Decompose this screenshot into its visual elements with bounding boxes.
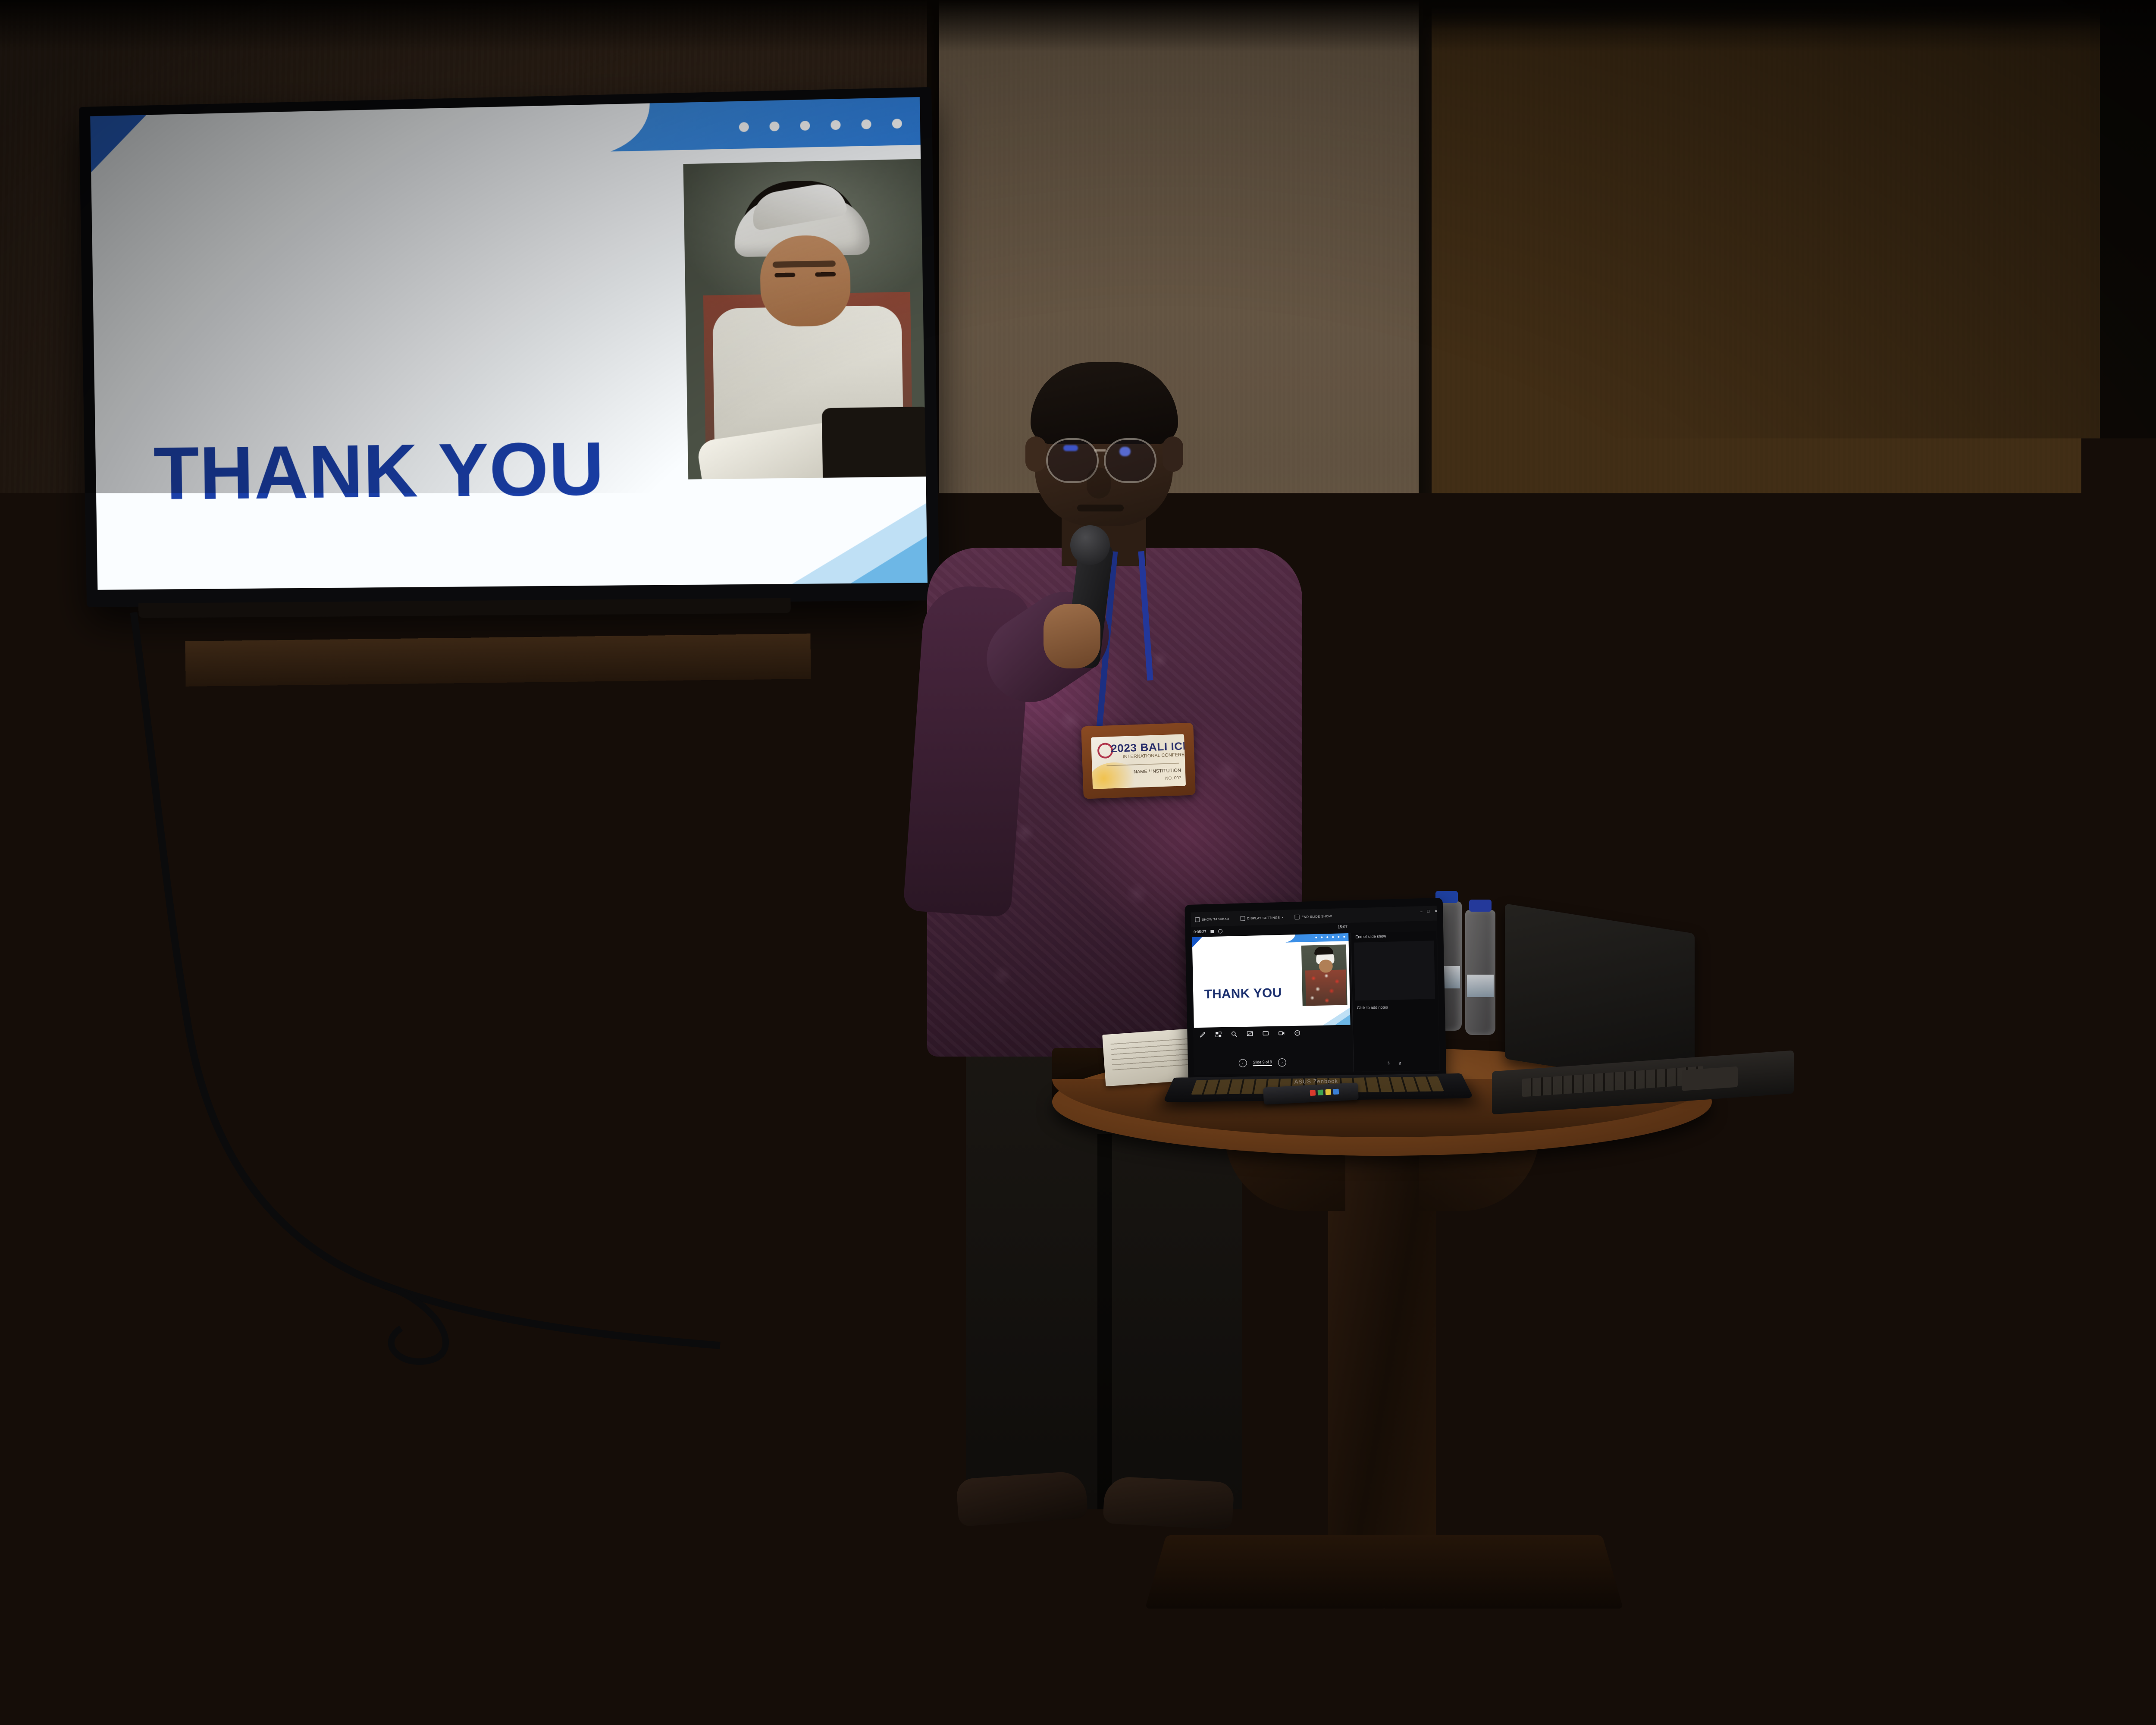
slide-dot [1321, 936, 1322, 938]
wood-panel-seam [203, 595, 206, 1354]
slide-dot [861, 119, 871, 129]
assistant-brow-left [1727, 699, 1763, 704]
assistant-brow-right [1776, 697, 1808, 702]
toolbar-show-taskbar[interactable]: Show Taskbar [1195, 916, 1229, 922]
slide-dot [739, 122, 749, 132]
clicker-button-green[interactable] [1318, 1089, 1324, 1095]
pause-timer-icon[interactable] [1210, 930, 1214, 933]
photo-eye [774, 273, 795, 277]
photo-face [760, 235, 851, 327]
clicker-button-red[interactable] [1310, 1090, 1316, 1096]
clicker-button-yellow[interactable] [1326, 1089, 1332, 1095]
slide-dot [830, 120, 840, 130]
ceiling-soffit [1423, 0, 2156, 30]
photo-brow [773, 260, 836, 268]
clicker-button-blue[interactable] [1333, 1089, 1339, 1095]
assistant-hair-fringe [1700, 624, 1872, 701]
more-options-icon[interactable] [1294, 1029, 1300, 1036]
slide-dot [1338, 936, 1339, 938]
presenter-ink-toolbar[interactable] [1199, 1029, 1300, 1038]
laptop-desk-1[interactable] [1802, 1018, 2044, 1207]
presenter-ear-right [1163, 436, 1183, 472]
previous-slide-button[interactable]: ‹ [1239, 1059, 1247, 1067]
slide-counter: Slide 9 of 9 [1253, 1060, 1272, 1066]
photo-face [1319, 960, 1333, 973]
laptop-keyboard[interactable] [1824, 1170, 2009, 1205]
laptop-screen[interactable]: Show Taskbar Display Settings ▾ End Slid… [1191, 906, 1440, 1075]
lens-reflection-left [1063, 445, 1078, 451]
window-controls[interactable]: – □ ✕ [1420, 909, 1438, 913]
notes-zoom-controls[interactable]: 𝔥 𝔤 [1388, 1061, 1401, 1066]
assistant-mouth [1749, 764, 1790, 770]
notes-placeholder[interactable]: Click to add notes [1357, 1005, 1388, 1010]
photo-ceremonial-garland [1305, 969, 1347, 1006]
presenter-nose [1087, 467, 1111, 499]
clicker-buttons[interactable] [1310, 1089, 1339, 1096]
tv-wall-shelf [185, 634, 811, 687]
wood-panel-seam [763, 595, 767, 1354]
camera-icon[interactable] [1278, 1029, 1285, 1036]
slide-title: THANK YOU [1204, 986, 1282, 1002]
next-slide-heading: End of slide show [1355, 934, 1386, 939]
presenter-hand [1044, 604, 1100, 668]
assistant-eye-left [1732, 712, 1757, 721]
slide-photo [1301, 944, 1347, 1006]
bottle-cap [1469, 900, 1492, 912]
minimize-icon[interactable]: – [1420, 910, 1422, 913]
presentation-slide: THANK YOU [90, 97, 928, 590]
badge-number: NO. 007 [1165, 776, 1181, 781]
wall-mounted-tv: THANK YOU [79, 87, 940, 607]
lens-reflection-right [1119, 447, 1131, 456]
presenter-hair [1031, 362, 1178, 444]
slide-dot [800, 121, 810, 131]
toolbar-end-slide-show[interactable]: End Slide Show [1294, 913, 1332, 919]
chevron-down-icon: ▾ [1282, 916, 1284, 919]
decrease-text-icon[interactable]: 𝔥 [1388, 1061, 1390, 1066]
eyeglasses-bridge [1094, 449, 1106, 452]
wood-panel-seam [483, 595, 486, 1354]
slide-dot [1315, 937, 1317, 938]
elapsed-timer: 0:05:27 [1194, 929, 1206, 934]
laptop-keyboard[interactable] [1522, 1066, 1703, 1097]
next-slide-preview [1354, 941, 1435, 1000]
bottle-label [1467, 975, 1494, 997]
tv-screen: THANK YOU [90, 97, 928, 590]
bottle-cap [2143, 1026, 2156, 1040]
slide-photo [683, 159, 928, 479]
taskbar-icon [1195, 917, 1200, 922]
toolbar-show-taskbar-label: Show Taskbar [1202, 917, 1229, 922]
assistant-ear [1838, 703, 1864, 745]
slide-title: THANK YOU [153, 431, 605, 511]
presenter-side-panel: End of slide show Click to add notes 𝔥 𝔤 [1351, 931, 1439, 1072]
laptop-table-secondary[interactable] [1496, 919, 1738, 1104]
next-slide-button[interactable]: › [1278, 1058, 1286, 1066]
increase-text-icon[interactable]: 𝔤 [1399, 1061, 1401, 1066]
assistant-eye-right [1780, 710, 1805, 719]
restart-timer-icon[interactable] [1218, 929, 1222, 933]
water-bottle[interactable] [2139, 1035, 2156, 1177]
system-clock: 15:07 [1338, 925, 1347, 929]
name-badge-card: 2023 BALI ICPM INTERNATIONAL CONFERENCE … [1091, 734, 1186, 789]
slide-corner-accent [90, 115, 147, 172]
slide-navigation[interactable]: ‹ Slide 9 of 9 › [1239, 1058, 1286, 1067]
slide-dot [1332, 936, 1334, 938]
photo-eye [815, 272, 836, 277]
badge-clip [1753, 1126, 1773, 1152]
photo-hair [1314, 947, 1333, 955]
pen-icon[interactable] [1199, 1031, 1206, 1038]
slide-corner-triangle-blue [1335, 1014, 1351, 1025]
end-show-icon [1294, 914, 1299, 919]
assistant-nose [1754, 725, 1778, 753]
presenter-mouth [1077, 505, 1124, 511]
laptop-trackpad[interactable] [1682, 1066, 1738, 1091]
slide-dot [1326, 936, 1328, 938]
eyeglasses-lens-right [1104, 438, 1156, 483]
toolbar-display-settings[interactable]: Display Settings ▾ [1240, 915, 1284, 921]
zoom-icon[interactable] [1231, 1030, 1238, 1037]
presenter-current-slide: THANK YOU [1192, 933, 1351, 1028]
presenter-ear-left [1025, 436, 1046, 472]
slide-dot [892, 119, 902, 129]
name-badge: 2023 BALI ICPM INTERNATIONAL CONFERENCE … [1081, 723, 1196, 799]
table-foot [1361, 1535, 1623, 1609]
conference-desk [1716, 1182, 2156, 1725]
wood-wall-panelling [0, 595, 949, 1354]
display-icon [1240, 916, 1245, 921]
slide-dot [1343, 936, 1345, 938]
toolbar-end-slide-show-label: End Slide Show [1301, 914, 1332, 919]
restore-icon[interactable]: □ [1427, 910, 1430, 913]
slide-corner-accent [1192, 937, 1203, 947]
laptop-presenter-view[interactable]: Show Taskbar Display Settings ▾ End Slid… [1185, 898, 1446, 1085]
black-screen-icon[interactable] [1246, 1030, 1253, 1037]
badge-holder-name: NAME / INSTITUTION [1134, 768, 1181, 775]
toolbar-display-settings-label: Display Settings [1247, 916, 1280, 920]
slide-dot [769, 122, 779, 132]
see-all-slides-icon[interactable] [1215, 1031, 1222, 1038]
presentation-screen-icon[interactable] [1262, 1030, 1269, 1037]
conference-room-scene: THANK YOU [0, 0, 2156, 1725]
water-bottle[interactable] [1465, 910, 1495, 1035]
round-pedestal-table [1052, 1048, 1733, 1695]
